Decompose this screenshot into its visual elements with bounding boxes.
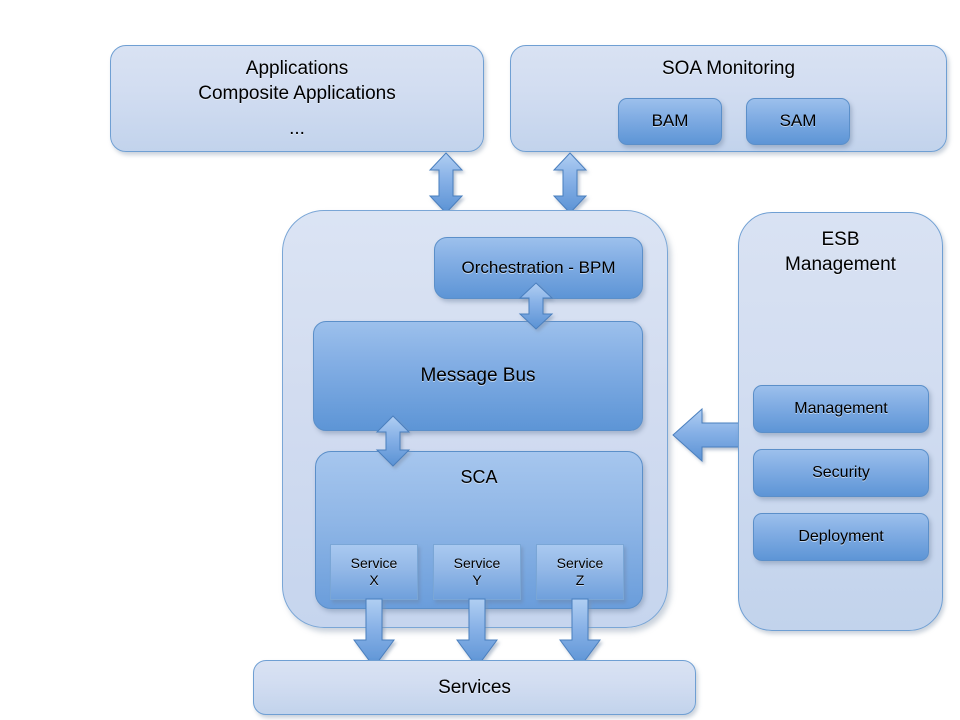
service-z-label: Service Z xyxy=(557,555,604,589)
service-x-label: Service X xyxy=(351,555,398,589)
security-label: Security xyxy=(812,462,870,483)
sca-title: SCA xyxy=(316,466,642,490)
deployment-box[interactable]: Deployment xyxy=(753,513,929,561)
sam-box[interactable]: SAM xyxy=(746,98,850,145)
message-bus-to-sca-arrow xyxy=(375,415,411,467)
esb-container[interactable]: Orchestration - BPM Message Bus SCA Serv… xyxy=(282,210,668,628)
message-bus-box[interactable]: Message Bus xyxy=(313,321,643,431)
deployment-label: Deployment xyxy=(798,526,883,547)
monitoring-to-esb-arrow xyxy=(552,152,588,214)
esb-management-to-esb-arrow xyxy=(672,408,740,462)
applications-line-3: ... xyxy=(289,116,305,141)
service-x-to-services-arrow xyxy=(352,598,396,668)
diagram-canvas: Applications Composite Applications ... … xyxy=(0,0,960,720)
applications-line-2: Composite Applications xyxy=(198,81,396,106)
bam-label: BAM xyxy=(652,110,689,132)
service-y-box[interactable]: Service Y xyxy=(433,544,521,600)
security-box[interactable]: Security xyxy=(753,449,929,497)
services-box[interactable]: Services xyxy=(253,660,696,715)
management-box[interactable]: Management xyxy=(753,385,929,433)
applications-to-esb-arrow xyxy=(428,152,464,214)
sca-box[interactable]: SCA Service X Service Y Service Z xyxy=(315,451,643,609)
services-label: Services xyxy=(438,675,511,700)
service-z-box[interactable]: Service Z xyxy=(536,544,624,600)
soa-monitoring-title: SOA Monitoring xyxy=(511,56,946,81)
service-z-to-services-arrow xyxy=(558,598,602,668)
service-y-label: Service Y xyxy=(454,555,501,589)
applications-line-1: Applications xyxy=(246,56,348,81)
esb-management-title: ESB Management xyxy=(739,227,942,277)
sam-label: SAM xyxy=(780,110,817,132)
message-bus-label: Message Bus xyxy=(420,363,535,388)
bam-box[interactable]: BAM xyxy=(618,98,722,145)
management-label: Management xyxy=(794,398,887,419)
service-x-box[interactable]: Service X xyxy=(330,544,418,600)
orchestration-bpm-label: Orchestration - BPM xyxy=(462,257,616,279)
applications-box[interactable]: Applications Composite Applications ... xyxy=(110,45,484,152)
orchestration-to-message-bus-arrow xyxy=(518,282,554,330)
service-y-to-services-arrow xyxy=(455,598,499,668)
esb-management-panel[interactable]: ESB Management Management Security Deplo… xyxy=(738,212,943,631)
soa-monitoring-box[interactable]: SOA Monitoring BAM SAM xyxy=(510,45,947,152)
